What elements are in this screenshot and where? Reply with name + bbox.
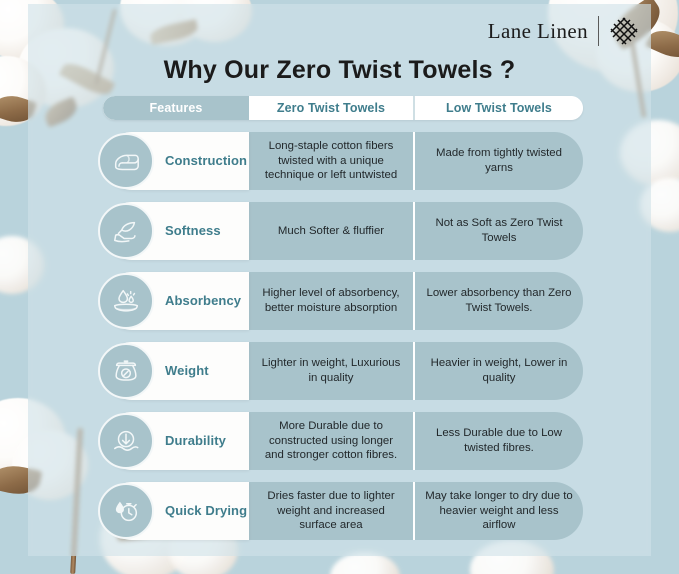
feature-label: Absorbency	[165, 294, 241, 308]
cell-zero-twist: Long-staple cotton fibers twisted with a…	[249, 132, 415, 190]
brand-divider	[598, 16, 599, 46]
feature-label: Construction	[165, 154, 247, 168]
column-header-features: Features	[103, 96, 249, 120]
cell-zero-twist: Much Softer & fluffier	[249, 202, 415, 260]
cell-low-twist: Heavier in weight, Lower in quality	[415, 342, 583, 400]
feature-label: Softness	[165, 224, 221, 238]
column-header-low-twist: Low Twist Towels	[415, 96, 583, 120]
droplet-stopwatch-icon	[98, 483, 154, 539]
brand-name: Lane Linen	[488, 19, 588, 44]
table-row: Softness Much Softer & fluffier Not as S…	[103, 202, 583, 260]
downward-arrow-strength-icon	[98, 413, 154, 469]
page-title: Why Our Zero Twist Towels ?	[0, 56, 679, 85]
cell-low-twist: Not as Soft as Zero Twist Towels	[415, 202, 583, 260]
cell-zero-twist: Lighter in weight, Luxurious in quality	[249, 342, 415, 400]
weighing-scale-icon	[98, 343, 154, 399]
table-row: Absorbency Higher level of absorbency, b…	[103, 272, 583, 330]
table-row: Durability More Durable due to construct…	[103, 412, 583, 470]
folded-towel-icon	[98, 133, 154, 189]
cell-zero-twist: Higher level of absorbency, better moist…	[249, 272, 415, 330]
feather-in-hand-icon	[98, 203, 154, 259]
feature-cell-construction: Construction	[103, 132, 249, 190]
feature-label: Quick Drying	[165, 504, 247, 518]
feature-cell-durability: Durability	[103, 412, 249, 470]
feature-cell-softness: Softness	[103, 202, 249, 260]
comparison-table: Features Zero Twist Towels Low Twist Tow…	[103, 96, 583, 540]
feature-cell-quick-drying: Quick Drying	[103, 482, 249, 540]
feature-cell-absorbency: Absorbency	[103, 272, 249, 330]
woven-lattice-logo-icon	[609, 16, 639, 46]
column-header-zero-twist: Zero Twist Towels	[249, 96, 415, 120]
feature-label: Durability	[165, 434, 226, 448]
cell-low-twist: Less Durable due to Low twisted fibres.	[415, 412, 583, 470]
table-row: Quick Drying Dries faster due to lighter…	[103, 482, 583, 540]
table-header-row: Features Zero Twist Towels Low Twist Tow…	[103, 96, 583, 120]
water-droplet-absorb-icon	[98, 273, 154, 329]
feature-cell-weight: Weight	[103, 342, 249, 400]
table-row: Weight Lighter in weight, Luxurious in q…	[103, 342, 583, 400]
feature-label: Weight	[165, 364, 209, 378]
cell-low-twist: Made from tightly twisted yarns	[415, 132, 583, 190]
cell-zero-twist: More Durable due to constructed using lo…	[249, 412, 415, 470]
brand-logo: Lane Linen	[488, 14, 639, 48]
table-row: Construction Long-staple cotton fibers t…	[103, 132, 583, 190]
cell-zero-twist: Dries faster due to lighter weight and i…	[249, 482, 415, 540]
cell-low-twist: May take longer to dry due to heavier we…	[415, 482, 583, 540]
cell-low-twist: Lower absorbency than Zero Twist Towels.	[415, 272, 583, 330]
